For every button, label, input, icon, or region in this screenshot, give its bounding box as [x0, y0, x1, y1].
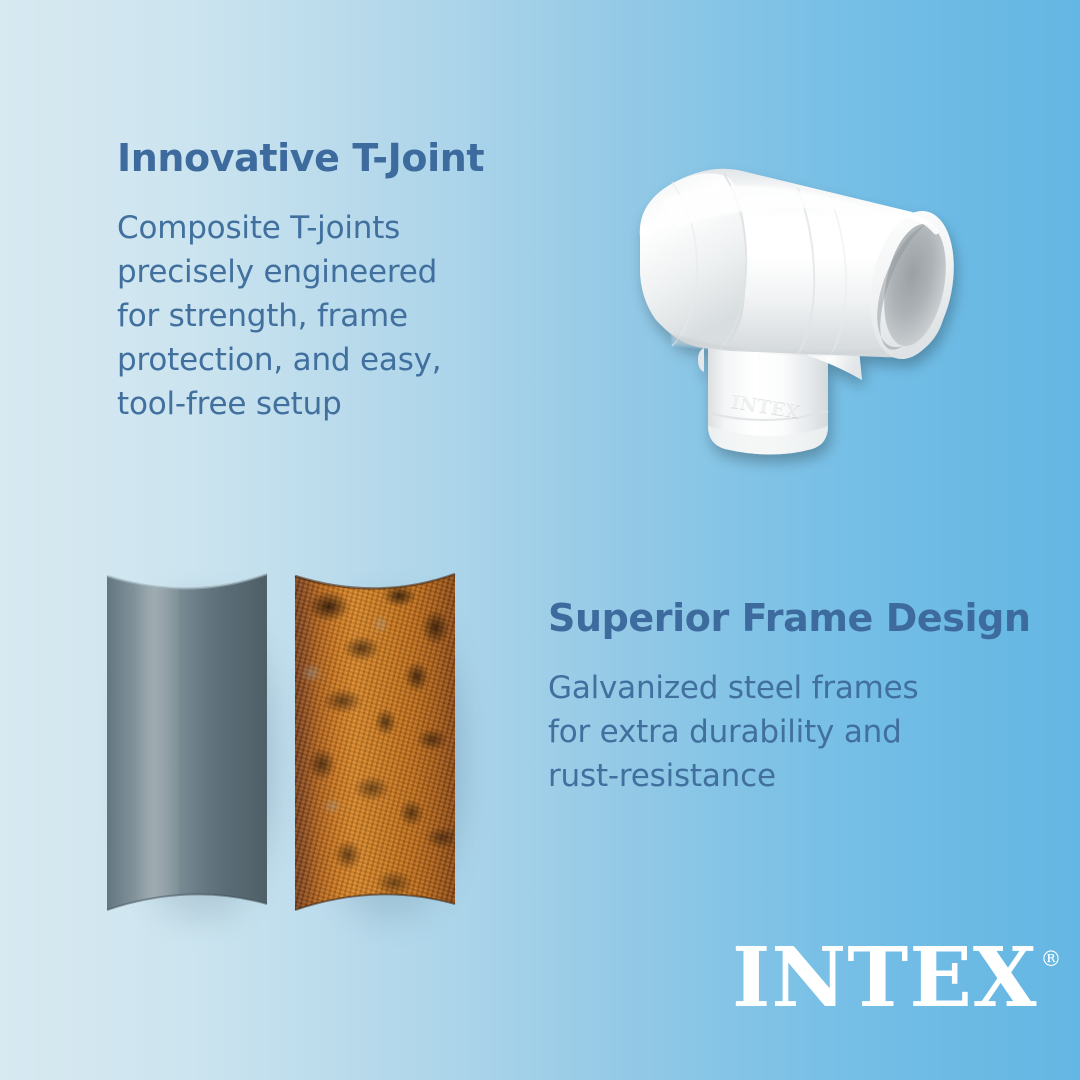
- body-line: Composite T-joints: [117, 206, 537, 250]
- body-line: for strength, frame: [117, 294, 537, 338]
- intex-wordmark: INTEX: [732, 941, 1037, 1016]
- t-joint-fitting-photo: INTEX INTEX: [612, 108, 992, 488]
- body-line: precisely engineered: [117, 250, 537, 294]
- body-line: tool-free setup: [117, 382, 537, 426]
- feature-heading-tjoint: Innovative T-Joint: [117, 138, 537, 180]
- feature-block-frame: Superior Frame Design Galvanized steel f…: [548, 598, 1018, 798]
- rusted-steel-pipe: [291, 568, 463, 918]
- pipe-comparison-photo: [95, 560, 495, 940]
- body-line: for extra durability and: [548, 710, 1018, 754]
- body-line: rust-resistance: [548, 754, 1018, 798]
- intex-logo: INTEX ®: [732, 941, 1061, 1016]
- body-line: Galvanized steel frames: [548, 666, 1018, 710]
- body-line: protection, and easy,: [117, 338, 537, 382]
- feature-block-tjoint: Innovative T-Joint Composite T-joints pr…: [117, 138, 537, 426]
- registered-trademark-symbol: ®: [1040, 947, 1061, 971]
- product-feature-panel: Innovative T-Joint Composite T-joints pr…: [0, 0, 1080, 1080]
- feature-body-tjoint: Composite T-joints precisely engineered …: [117, 206, 537, 426]
- feature-heading-frame: Superior Frame Design: [548, 598, 1018, 640]
- galvanized-steel-pipe: [103, 568, 275, 918]
- feature-body-frame: Galvanized steel frames for extra durabi…: [548, 666, 1018, 798]
